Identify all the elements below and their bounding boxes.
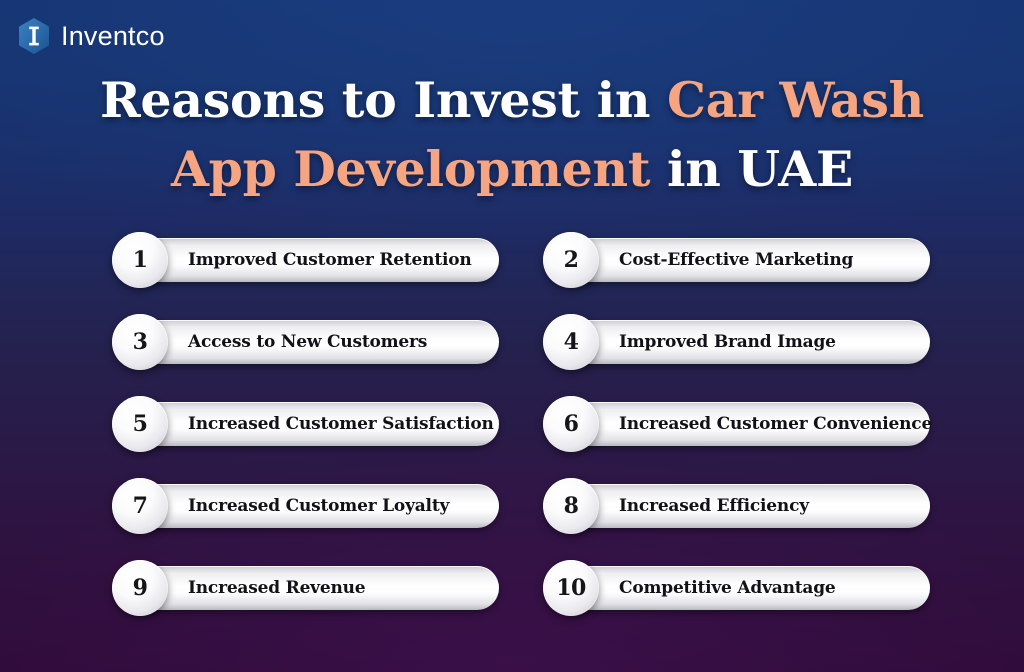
list-item-number-badge: 9 [112, 560, 168, 616]
title-line-1-white: Reasons to Invest in [100, 71, 667, 129]
list-item-number: 1 [133, 249, 148, 271]
list-item-label: Competitive Advantage [619, 580, 836, 597]
list-item-number: 2 [564, 249, 579, 271]
list-item-label: Cost-Effective Marketing [619, 252, 853, 269]
list-item-label: Increased Customer Satisfaction [188, 416, 494, 433]
list-item[interactable]: 10 Competitive Advantage [543, 560, 930, 616]
title-line-1-accent: Car Wash [667, 71, 924, 129]
list-item[interactable]: 6 Increased Customer Convenience [543, 396, 930, 452]
list-item-number: 5 [133, 413, 148, 435]
list-item-number-badge: 2 [543, 232, 599, 288]
list-item-number: 4 [564, 331, 579, 353]
list-item-number-badge: 1 [112, 232, 168, 288]
list-item-number: 10 [556, 577, 586, 599]
title-line-1: Reasons to Invest in Car Wash [0, 66, 1024, 135]
list-item-label: Increased Efficiency [619, 498, 809, 515]
list-item-number-badge: 5 [112, 396, 168, 452]
title-line-2: App Development in UAE [0, 135, 1024, 204]
list-item-number-badge: 8 [543, 478, 599, 534]
list-item-number-badge: 6 [543, 396, 599, 452]
brand-name: Inventco [61, 23, 165, 50]
list-item[interactable]: 9 Increased Revenue [112, 560, 499, 616]
title-line-2-accent: App Development [171, 140, 650, 198]
list-item-number-badge: 3 [112, 314, 168, 370]
reasons-list: 1 Improved Customer Retention 2 Cost-Eff… [112, 232, 930, 616]
list-item[interactable]: 3 Access to New Customers [112, 314, 499, 370]
title-line-2-white: in UAE [650, 140, 853, 198]
list-item[interactable]: 2 Cost-Effective Marketing [543, 232, 930, 288]
list-item-number: 7 [133, 495, 148, 517]
list-item-number: 9 [133, 577, 148, 599]
list-item-label: Increased Customer Convenience [619, 416, 932, 433]
list-item-label: Improved Customer Retention [188, 252, 472, 269]
list-item-label: Increased Customer Loyalty [188, 498, 449, 515]
page-title: Reasons to Invest in Car Wash App Develo… [0, 66, 1024, 203]
list-item[interactable]: 8 Increased Efficiency [543, 478, 930, 534]
list-item-label: Access to New Customers [188, 334, 427, 351]
list-item-number: 8 [564, 495, 579, 517]
list-item[interactable]: 4 Improved Brand Image [543, 314, 930, 370]
list-item[interactable]: 1 Improved Customer Retention [112, 232, 499, 288]
list-item-label: Increased Revenue [188, 580, 365, 597]
list-item-number-badge: 10 [543, 560, 599, 616]
list-item[interactable]: 5 Increased Customer Satisfaction [112, 396, 499, 452]
list-item-label: Improved Brand Image [619, 334, 836, 351]
list-item-number-badge: 7 [112, 478, 168, 534]
brand-logo: Inventco [17, 17, 165, 55]
list-item-number-badge: 4 [543, 314, 599, 370]
list-item[interactable]: 7 Increased Customer Loyalty [112, 478, 499, 534]
list-item-number: 6 [564, 413, 579, 435]
infographic-canvas: Inventco Reasons to Invest in Car Wash A… [0, 0, 1024, 672]
hexagon-logo-icon [17, 17, 51, 55]
list-item-number: 3 [133, 331, 148, 353]
